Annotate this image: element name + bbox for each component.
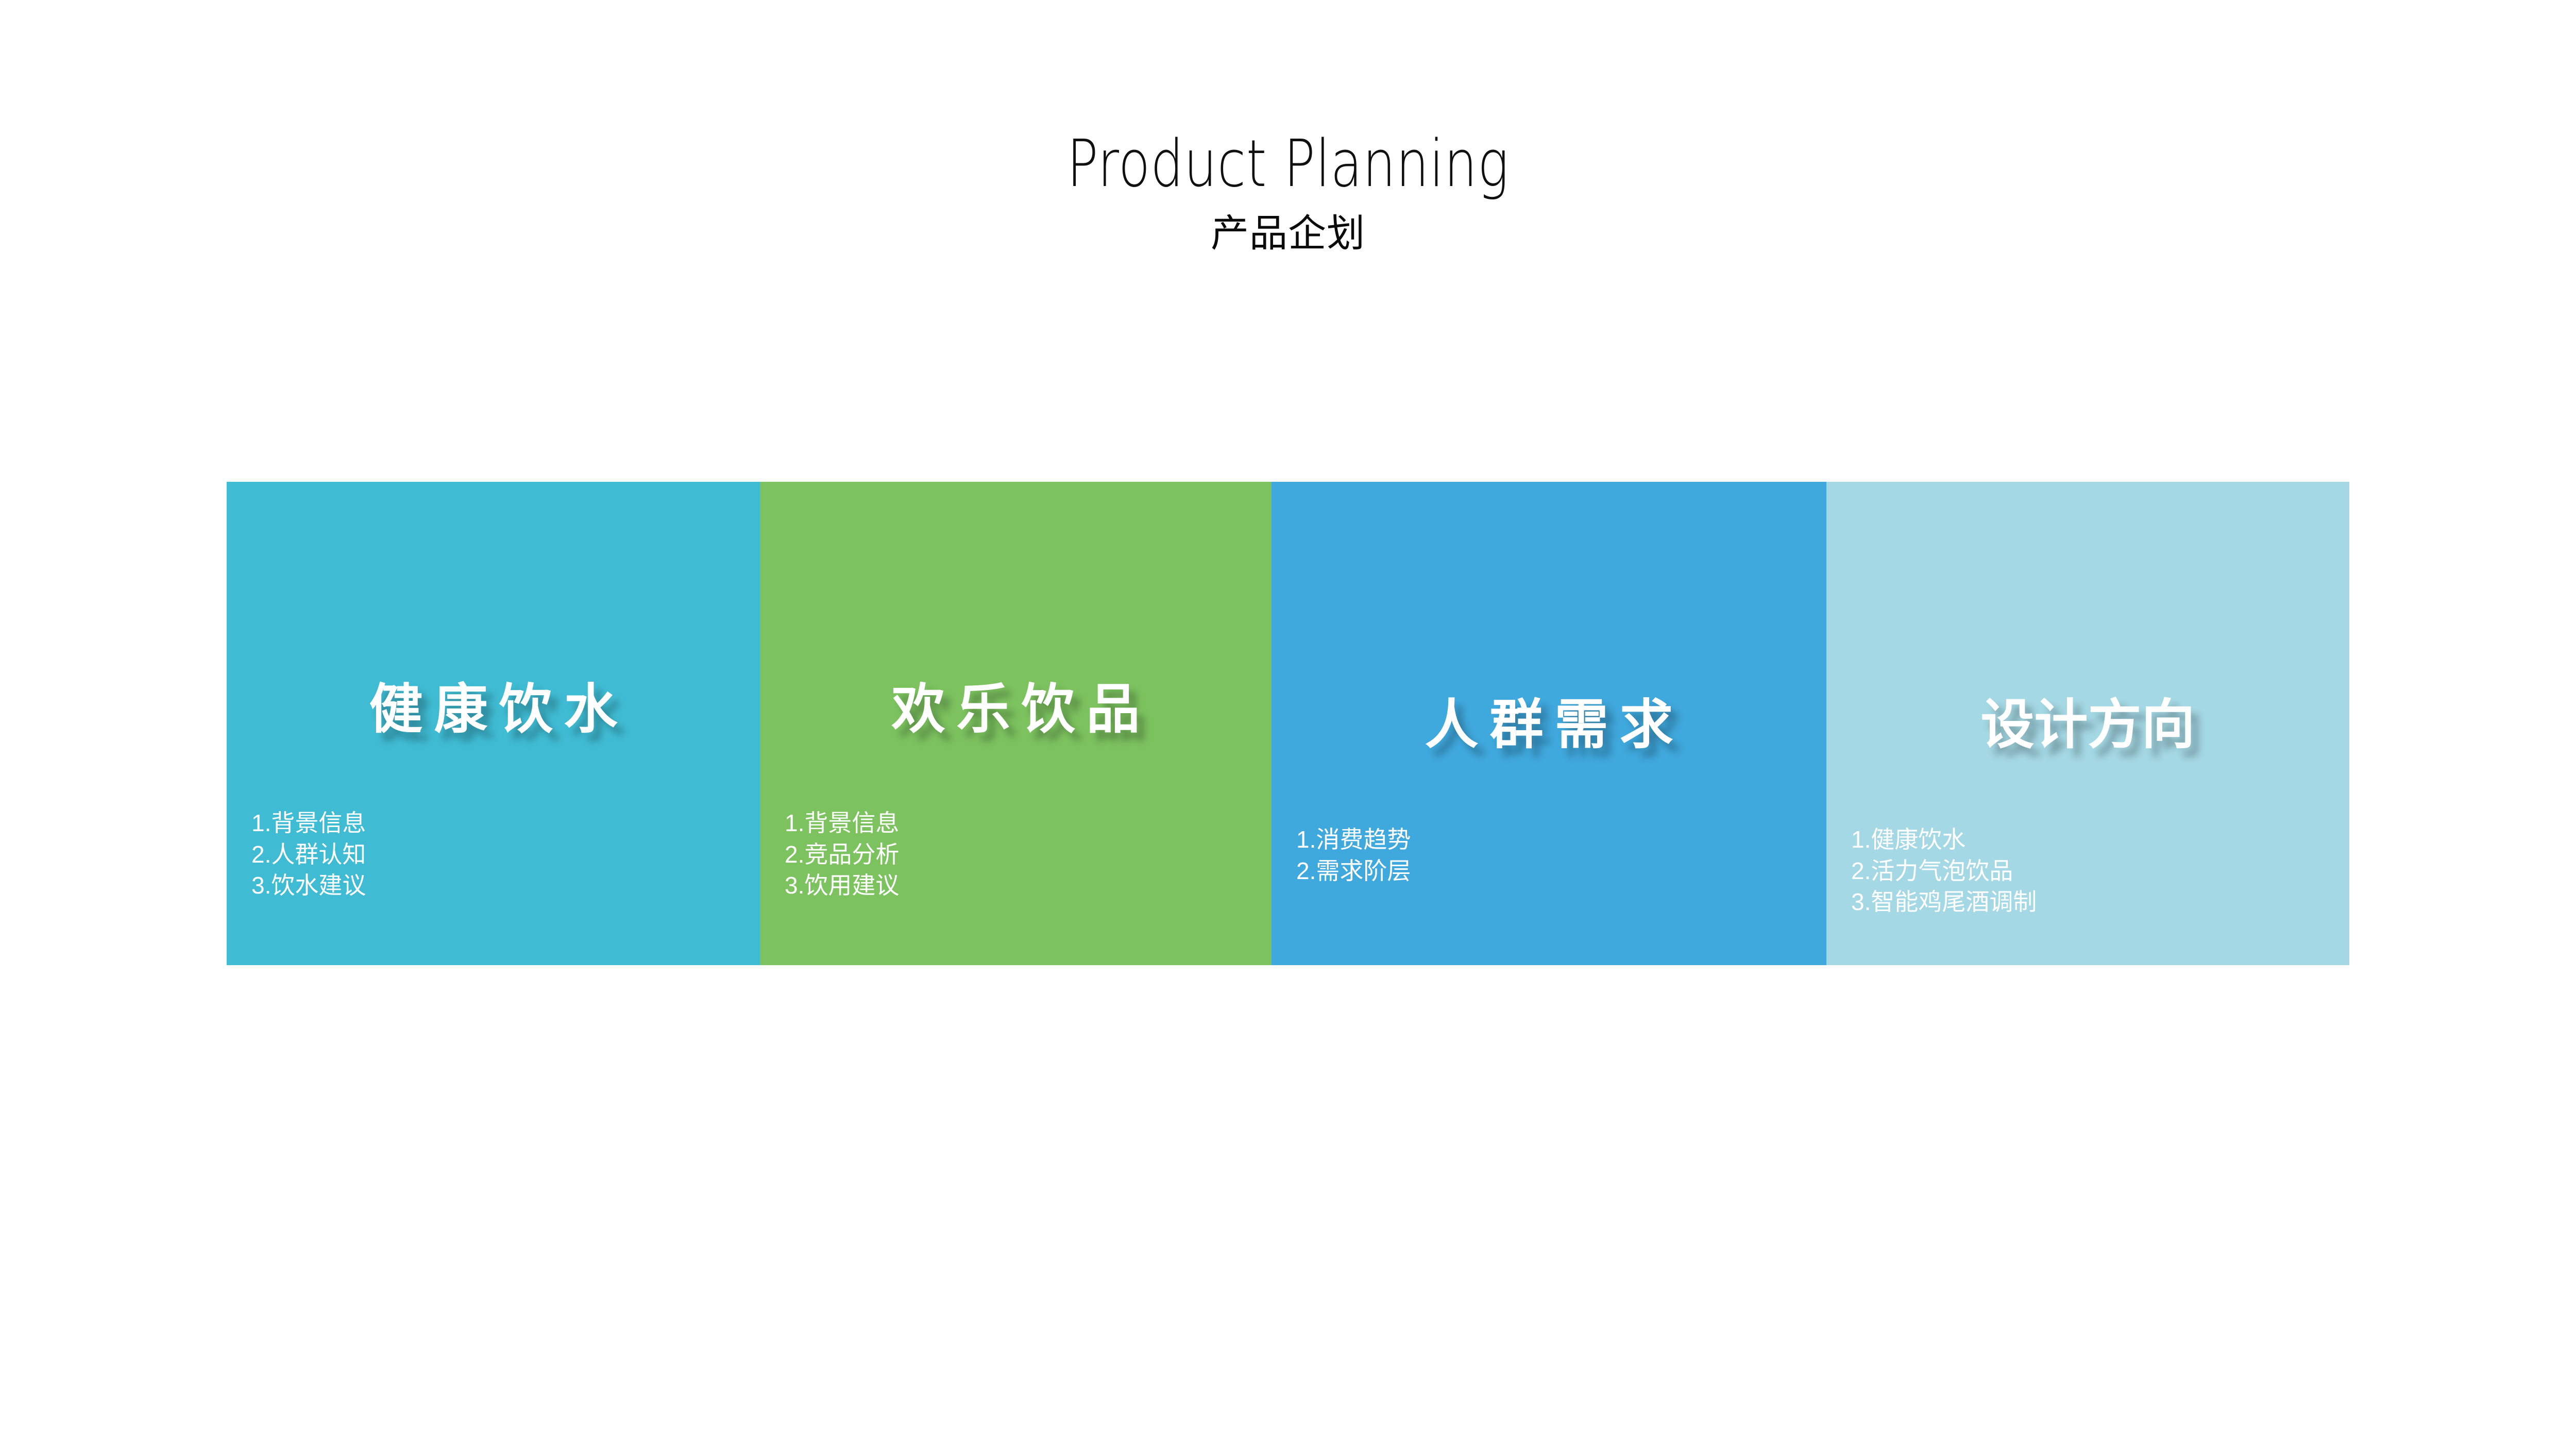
panel-heading-health-drinking-water: 健康饮水	[227, 683, 760, 736]
page-title: Product Planning	[258, 129, 2318, 199]
list-item: 2.需求阶层	[1296, 855, 1820, 887]
page-subtitle: 产品企划	[0, 213, 2576, 254]
panel-crowd-demand[interactable]: 人群需求 1.消费趋势 2.需求阶层	[1272, 482, 1826, 965]
list-item: 2.竞品分析	[785, 839, 1265, 870]
list-item: 2.人群认知	[251, 839, 754, 870]
list-item: 3.饮用建议	[785, 870, 1265, 901]
panel-heading-joyful-beverage: 欢乐饮品	[760, 683, 1272, 736]
list-item: 2.活力气泡饮品	[1851, 855, 2343, 887]
panel-list-joyful-beverage: 1.背景信息 2.竞品分析 3.饮用建议	[785, 807, 1265, 901]
list-item: 3.饮水建议	[251, 870, 754, 901]
panel-joyful-beverage[interactable]: 欢乐饮品 1.背景信息 2.竞品分析 3.饮用建议	[760, 482, 1272, 965]
list-item: 1.健康饮水	[1851, 824, 2343, 855]
list-item: 1.背景信息	[785, 807, 1265, 839]
panel-heading-design-direction: 设计方向	[1826, 698, 2349, 752]
panel-list-health-drinking-water: 1.背景信息 2.人群认知 3.饮水建议	[251, 807, 754, 901]
panel-health-drinking-water[interactable]: 健康饮水 1.背景信息 2.人群认知 3.饮水建议	[227, 482, 760, 965]
panel-list-crowd-demand: 1.消费趋势 2.需求阶层	[1296, 824, 1820, 886]
list-item: 3.智能鸡尾酒调制	[1851, 886, 2343, 918]
list-item: 1.背景信息	[251, 807, 754, 839]
slide-header: Product Planning 产品企划	[0, 129, 2576, 254]
panel-list-design-direction: 1.健康饮水 2.活力气泡饮品 3.智能鸡尾酒调制	[1851, 824, 2343, 918]
list-item: 1.消费趋势	[1296, 824, 1820, 855]
panel-band: 健康饮水 1.背景信息 2.人群认知 3.饮水建议 欢乐饮品 1.背景信息 2.…	[227, 482, 2349, 965]
presentation-slide: Product Planning 产品企划 健康饮水 1.背景信息 2.人群认知…	[0, 0, 2576, 1449]
panel-design-direction[interactable]: 设计方向 1.健康饮水 2.活力气泡饮品 3.智能鸡尾酒调制	[1826, 482, 2349, 965]
panel-heading-crowd-demand: 人群需求	[1272, 698, 1826, 752]
